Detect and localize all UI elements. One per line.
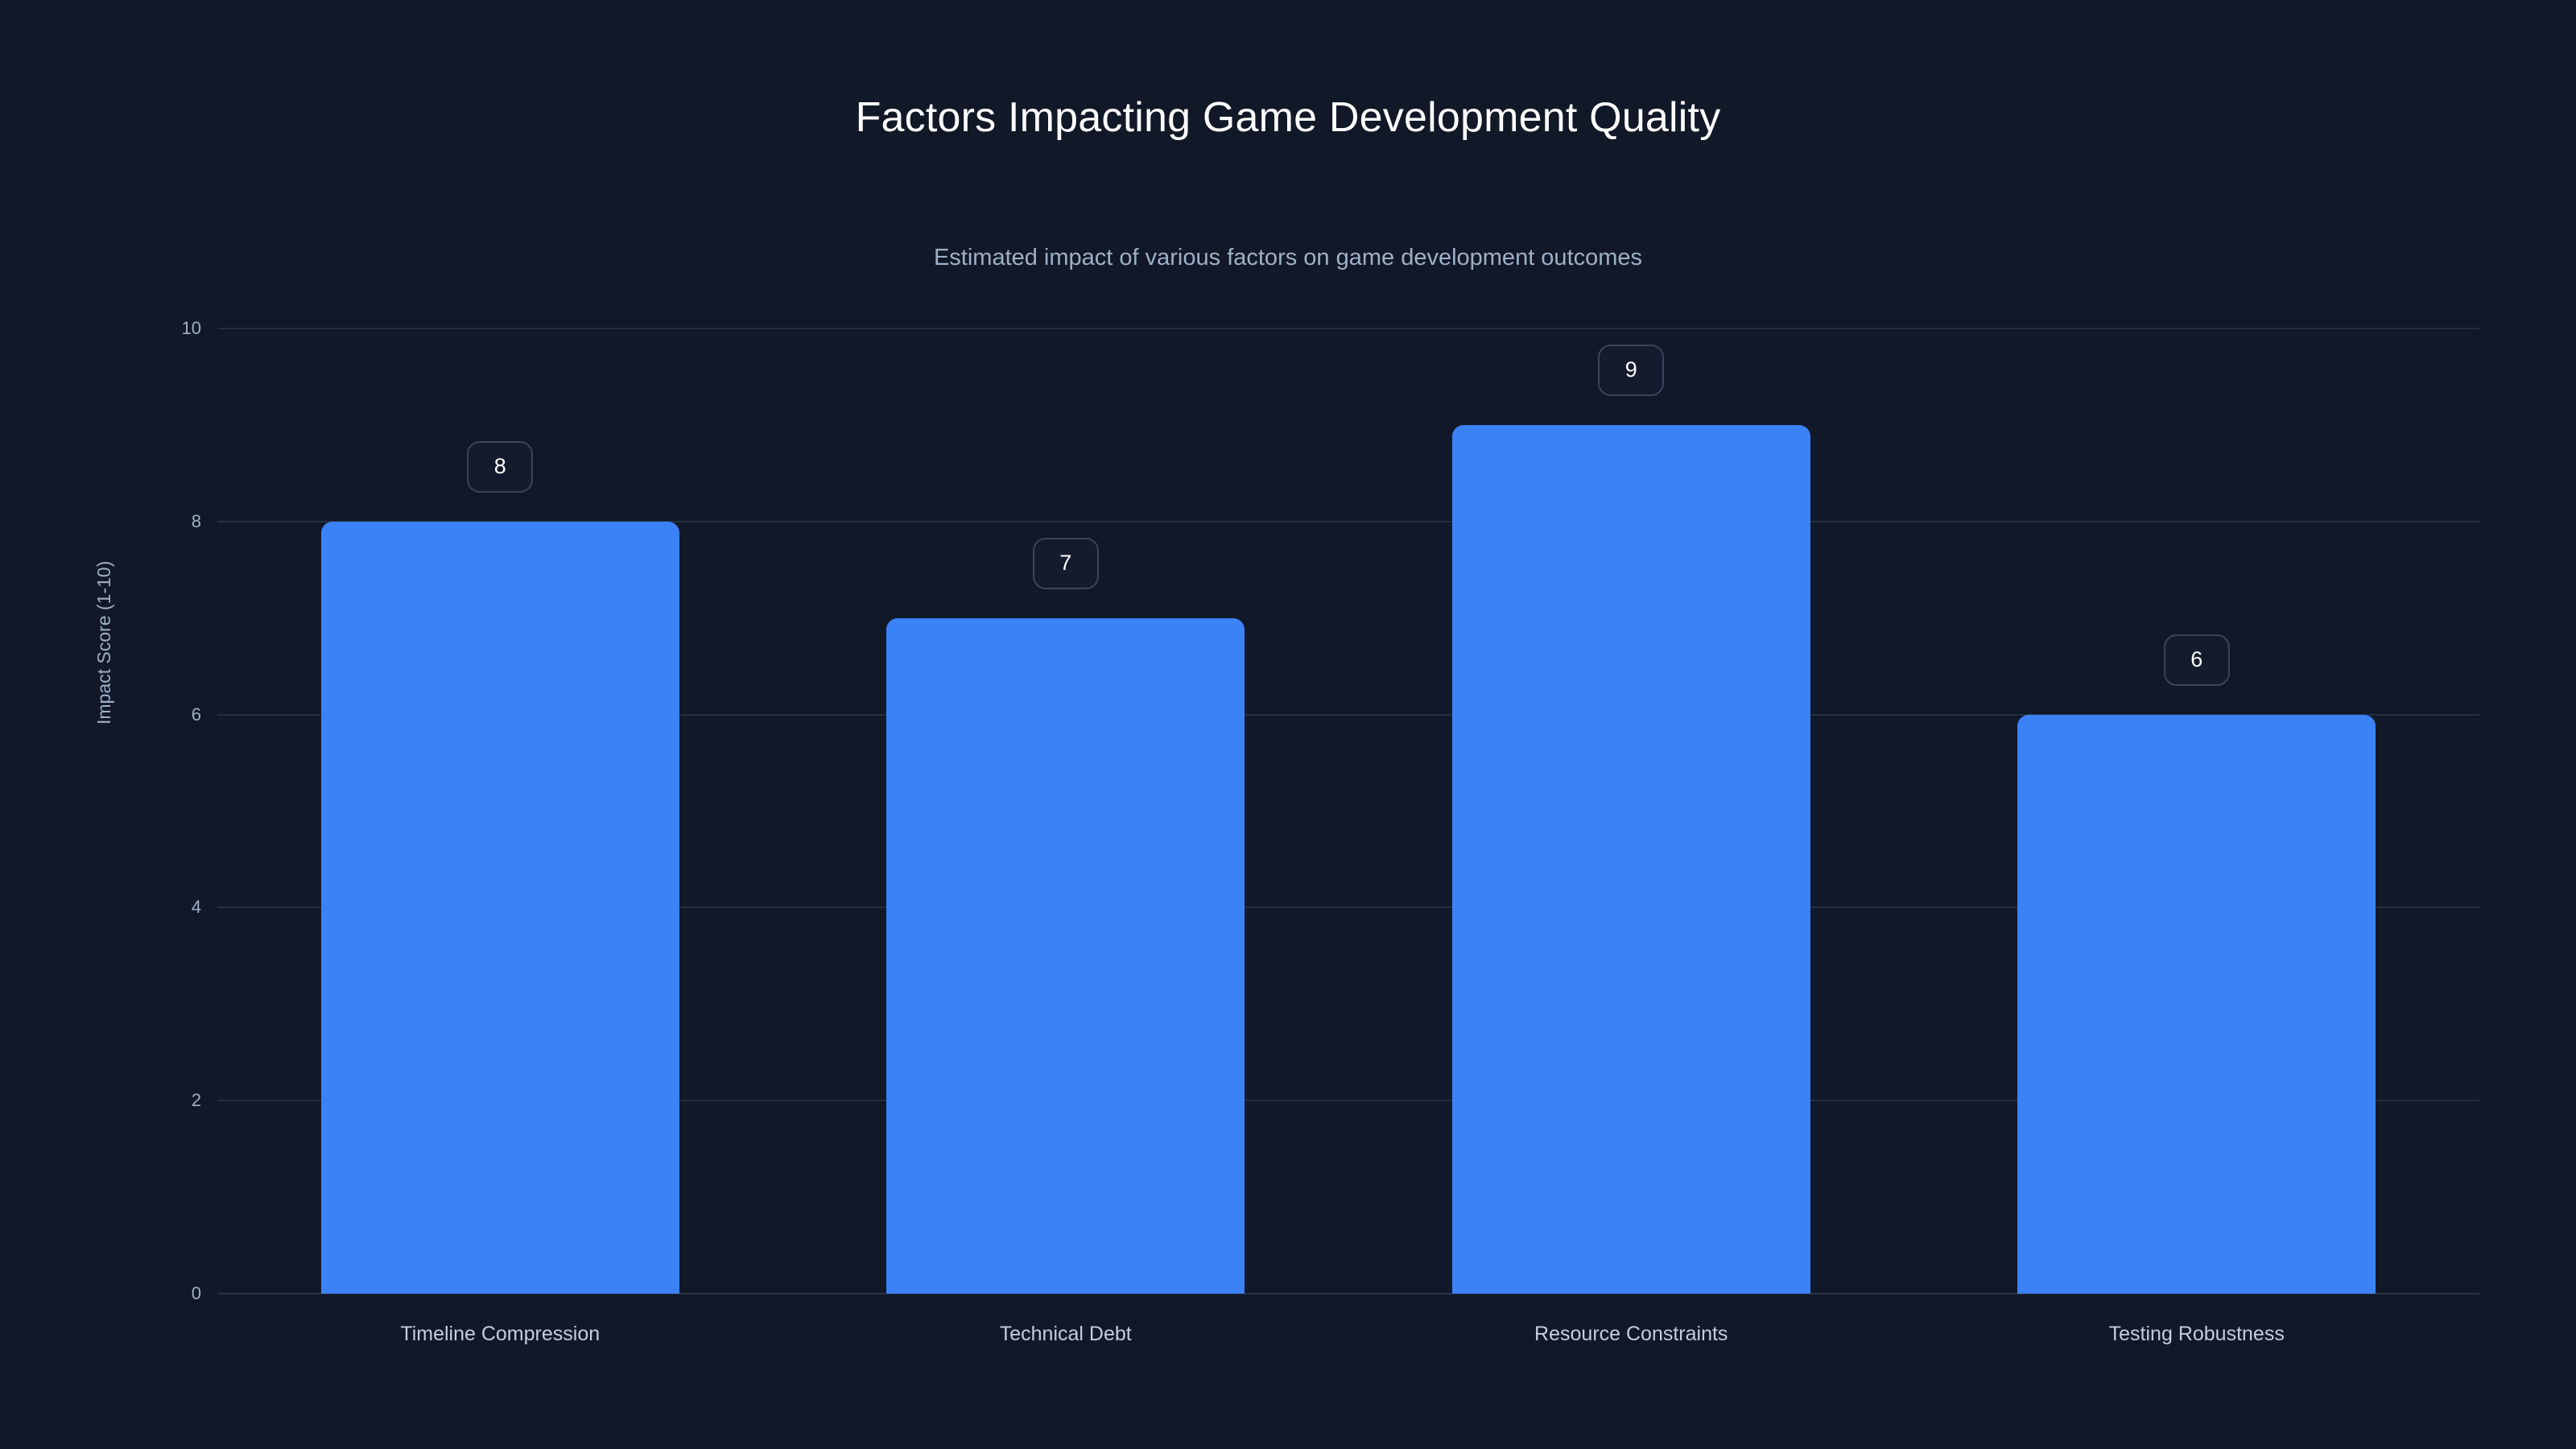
- y-tick-label-4: 4: [145, 898, 201, 916]
- gridline-y-10: [217, 328, 2479, 329]
- plot-area: [217, 328, 2479, 1294]
- value-badge: 6: [2164, 634, 2230, 686]
- bar-chart: Factors Impacting Game Development Quali…: [0, 0, 2576, 1449]
- value-badge: 7: [1033, 538, 1099, 589]
- bar[interactable]: [2017, 715, 2376, 1294]
- chart-title: Factors Impacting Game Development Quali…: [0, 95, 2576, 141]
- x-tick-label: Resource Constraints: [1348, 1324, 1914, 1344]
- bar[interactable]: [1452, 425, 1810, 1294]
- bar[interactable]: [321, 522, 679, 1294]
- y-axis-title: Impact Score (1-10): [95, 561, 114, 724]
- y-tick-label-6: 6: [145, 706, 201, 724]
- bar[interactable]: [886, 618, 1245, 1294]
- y-tick-label-8: 8: [145, 513, 201, 530]
- chart-subtitle: Estimated impact of various factors on g…: [0, 246, 2576, 271]
- y-tick-label-2: 2: [145, 1092, 201, 1109]
- y-tick-label-10: 10: [145, 320, 201, 337]
- y-tick-label-0: 0: [145, 1285, 201, 1302]
- value-badge: 9: [1598, 345, 1664, 396]
- value-badge: 8: [467, 441, 533, 493]
- x-tick-label: Technical Debt: [783, 1324, 1349, 1344]
- x-tick-label: Timeline Compression: [217, 1324, 783, 1344]
- x-tick-label: Testing Robustness: [1914, 1324, 2480, 1344]
